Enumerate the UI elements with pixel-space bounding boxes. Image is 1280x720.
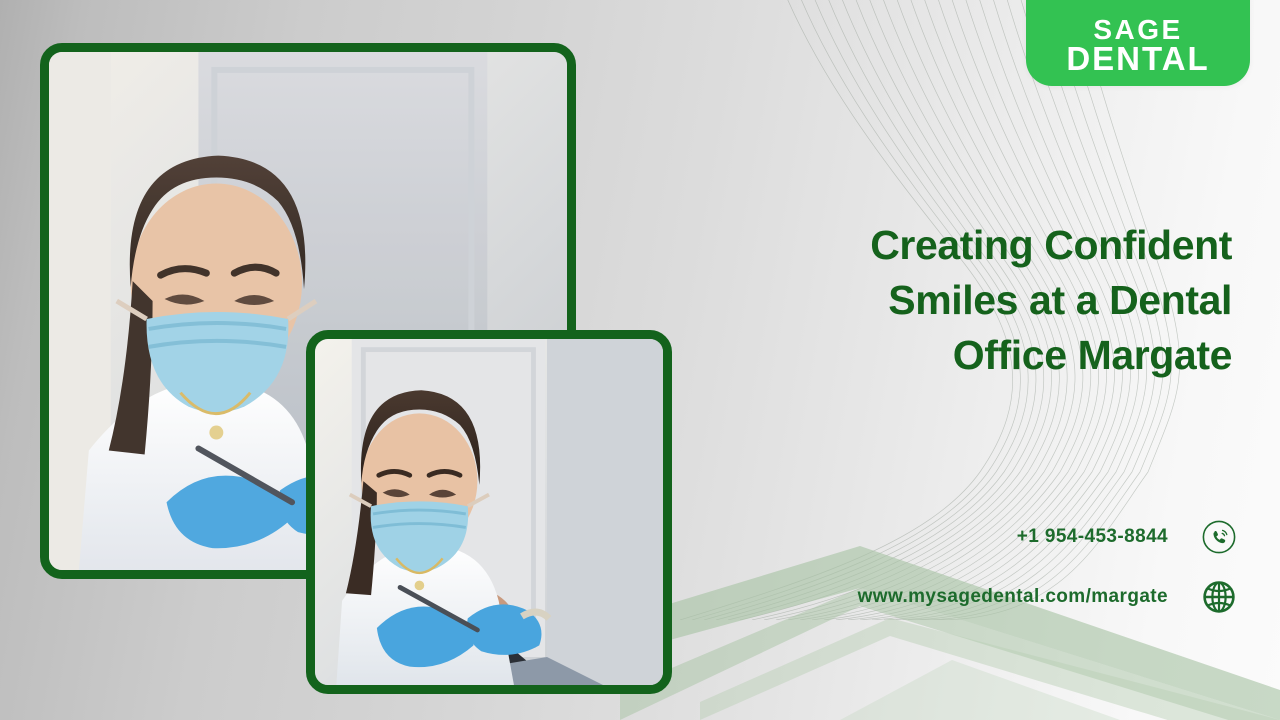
headline-line-3: Office Margate xyxy=(592,328,1232,383)
poster-canvas: SAGE DENTAL xyxy=(0,0,1280,720)
logo-text-dental: DENTAL xyxy=(1066,43,1209,74)
globe-icon xyxy=(1202,580,1236,614)
photo-frame-secondary xyxy=(306,330,672,694)
contact-block: +1 954-453-8844 www.mysagedental.com/mar… xyxy=(676,520,1236,640)
phone-circle-icon xyxy=(1202,520,1236,554)
headline-line-1: Creating Confident xyxy=(592,218,1232,273)
photo-secondary xyxy=(315,339,663,685)
brand-logo[interactable]: SAGE DENTAL xyxy=(1026,0,1250,86)
headline-line-2: Smiles at a Dental xyxy=(592,273,1232,328)
contact-row-website[interactable]: www.mysagedental.com/margate xyxy=(676,580,1236,614)
phone-number[interactable]: +1 954-453-8844 xyxy=(1017,526,1168,548)
page-title: Creating Confident Smiles at a Dental Of… xyxy=(592,218,1232,383)
contact-row-phone[interactable]: +1 954-453-8844 xyxy=(676,520,1236,554)
website-url[interactable]: www.mysagedental.com/margate xyxy=(858,586,1168,608)
